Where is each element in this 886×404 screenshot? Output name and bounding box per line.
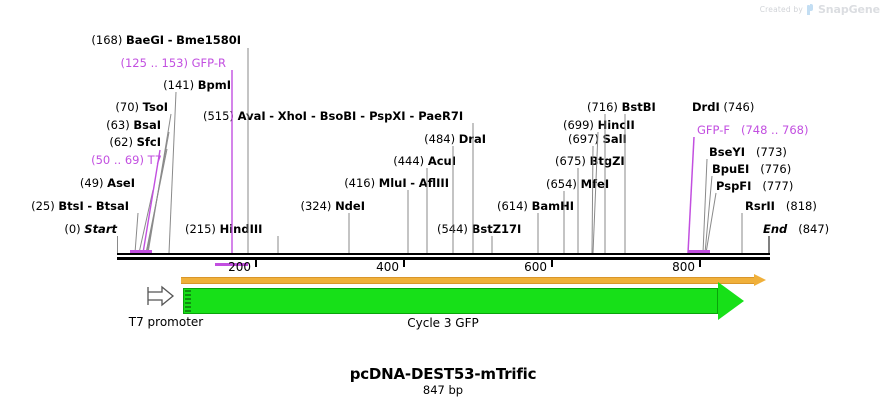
ruler-label-800: 800 [655,260,695,274]
site-name: BstBI [622,100,656,114]
site-label-bseyi[interactable]: BseYI (773) [709,146,787,159]
end-position: (847) [798,222,829,236]
site-position: (444) [393,154,424,168]
site-position: (773) [756,145,787,159]
site-position: (515) [203,109,234,123]
orange-span-body [181,277,754,284]
site-position: (49) [80,176,104,190]
site-name: MfeI [581,177,610,191]
site-label-hincii[interactable]: (699) HincII [563,119,635,132]
primer-range: (50 .. 69) [91,153,144,167]
site-label-drdi[interactable]: DrdI (746) [692,101,754,114]
orange-span-arrow[interactable] [181,277,766,284]
site-label-tsoi[interactable]: (70) TsoI [115,101,168,114]
site-position: (697) [568,132,599,146]
site-label-btgzi[interactable]: (675) BtgZI [555,155,625,168]
site-position: (675) [555,154,586,168]
watermark-created-label: Created by [760,5,803,14]
cycle3-gfp-body [183,288,718,314]
site-name: BtgZI [590,154,625,168]
site-name: BaeGI [126,33,164,47]
start-marker-label[interactable]: (0) Start [64,223,117,236]
dna-backbone-top-strand [117,253,770,255]
site-name: BtsI [58,199,83,213]
t7-promoter-arrow-icon[interactable] [146,284,176,308]
primer-name: GFP-F [697,123,730,137]
snapgene-map-canvas: Created by SnapGene (168) BaeGI - Bme158… [0,0,886,404]
site-position: (654) [546,177,577,191]
cycle3-gfp-caption: Cycle 3 GFP [363,316,523,330]
cycle3-gfp-arrow[interactable] [183,288,744,314]
site-name: MluI [379,176,407,190]
site-label-bpmi[interactable]: (141) BpmI [163,79,231,92]
site-name: BsaI [133,118,161,132]
end-marker-label[interactable]: End (847) [763,223,829,236]
site-separator: - [269,109,274,123]
site-position: (25) [31,199,55,213]
site-position: (484) [424,132,455,146]
site-name: AseI [107,176,135,190]
site-label-bpuei[interactable]: BpuEI (776) [712,163,791,176]
primer-range: (748 .. 768) [741,123,809,137]
site-position: (63) [106,118,130,132]
ruler-label-200: 200 [211,260,251,274]
site-position: (141) [163,78,194,92]
leader-line-start [117,236,118,253]
site-label-pspfi[interactable]: PspFI (777) [716,180,793,193]
site-label-btsi-btsai[interactable]: (25) BtsI - BtsaI [31,200,129,213]
site-position: (62) [109,135,133,149]
site-name: SalI [603,132,627,146]
site-label-bstz17i[interactable]: (544) BstZ17I [437,223,521,236]
site-label-sfci[interactable]: (62) SfcI [109,136,161,149]
site-label-bamhi[interactable]: (614) BamHI [497,200,574,213]
ruler-tick-200 [255,259,257,267]
site-label-rsrii[interactable]: RsrII (818) [745,200,817,213]
site-position: (777) [762,179,793,193]
snapgene-logo-icon [807,4,814,15]
ruler-label-400: 400 [359,260,399,274]
snapgene-watermark: Created by SnapGene [760,3,880,16]
site-position: (544) [437,222,468,236]
site-name: RsrII [745,199,775,213]
site-name: NdeI [335,199,365,213]
orange-span-arrowhead [754,274,766,286]
site-name: PspFI [716,179,751,193]
end-name: End [763,222,787,236]
site-position: (416) [344,176,375,190]
site-name: AcuI [428,154,456,168]
cycle3-gfp-start-stripe [185,290,191,312]
site-position: (746) [723,100,754,114]
primer-label-gfp-r[interactable]: (125 .. 153) GFP-R [120,57,226,70]
site-position: (215) [185,222,216,236]
primer-name: T7 [148,153,162,167]
site-name: HincII [598,118,635,132]
site-label-bsai[interactable]: (63) BsaI [106,119,161,132]
site-label-mfei[interactable]: (654) MfeI [546,178,609,191]
primer-label-t7[interactable]: (50 .. 69) T7 [91,154,162,167]
t7-promoter-caption: T7 promoter [86,315,246,329]
site-position: (716) [587,100,618,114]
site-name: BpmI [198,78,231,92]
site-position: (168) [91,33,122,47]
site-name: BpuEI [712,162,749,176]
site-name: BstZ17I [472,222,522,236]
site-label-baegi-bme1580i[interactable]: (168) BaeGI - Bme1580I [91,34,241,47]
ruler-tick-800 [699,259,701,267]
site-name: DrdI [692,100,720,114]
site-label-sali[interactable]: (697) SalI [568,133,627,146]
site-label-mlui-afliii[interactable]: (416) MluI - AflIII [344,177,449,190]
primer-name: GFP-R [192,56,226,70]
ruler-label-600: 600 [507,260,547,274]
site-separator: - [87,199,92,213]
site-label-ndei[interactable]: (324) NdeI [300,200,365,213]
plasmid-length: 847 bp [0,383,886,397]
ruler-tick-400 [403,259,405,267]
primer-label-gfp-f[interactable]: GFP-F (748 .. 768) [697,124,808,137]
site-position: (70) [115,100,139,114]
ruler-tick-600 [551,259,553,267]
site-name: HindIII [220,222,263,236]
site-separator: - [410,176,415,190]
site-name-2: Bme1580I [176,33,241,47]
site-label-asei[interactable]: (49) AseI [80,177,135,190]
site-name: DraI [459,132,486,146]
site-position: (818) [786,199,817,213]
site-position: (699) [563,118,594,132]
site-label-hindiii[interactable]: (215) HindIII [185,223,262,236]
site-label-avai-group[interactable]: (515) AvaI - XhoI - BsoBI - PspXI - PaeR… [203,110,463,123]
site-name-2: BtsaI [96,199,129,213]
site-position: (776) [760,162,791,176]
site-name: BseYI [709,145,745,159]
cycle3-gfp-arrowhead [718,282,744,320]
site-label-drai[interactable]: (484) DraI [424,133,486,146]
site-name-2: AflIII [419,176,449,190]
start-position: (0) [64,222,80,236]
site-separator: - [168,33,173,47]
watermark-brand-label: SnapGene [818,3,880,16]
site-name: TsoI [143,100,168,114]
site-position: (614) [497,199,528,213]
site-name: AvaI [238,109,266,123]
start-name: Start [84,222,117,236]
site-name: SfcI [137,135,161,149]
primer-range: (125 .. 153) [120,56,188,70]
site-position: (324) [300,199,331,213]
site-name: BamHI [532,199,574,213]
site-label-acui[interactable]: (444) AcuI [393,155,456,168]
site-label-bstbi[interactable]: (716) BstBI [587,101,656,114]
site-name-2: XhoI - BsoBI - PspXI - PaeR7I [278,109,463,123]
plasmid-title: pcDNA-DEST53-mTrific [0,365,886,383]
